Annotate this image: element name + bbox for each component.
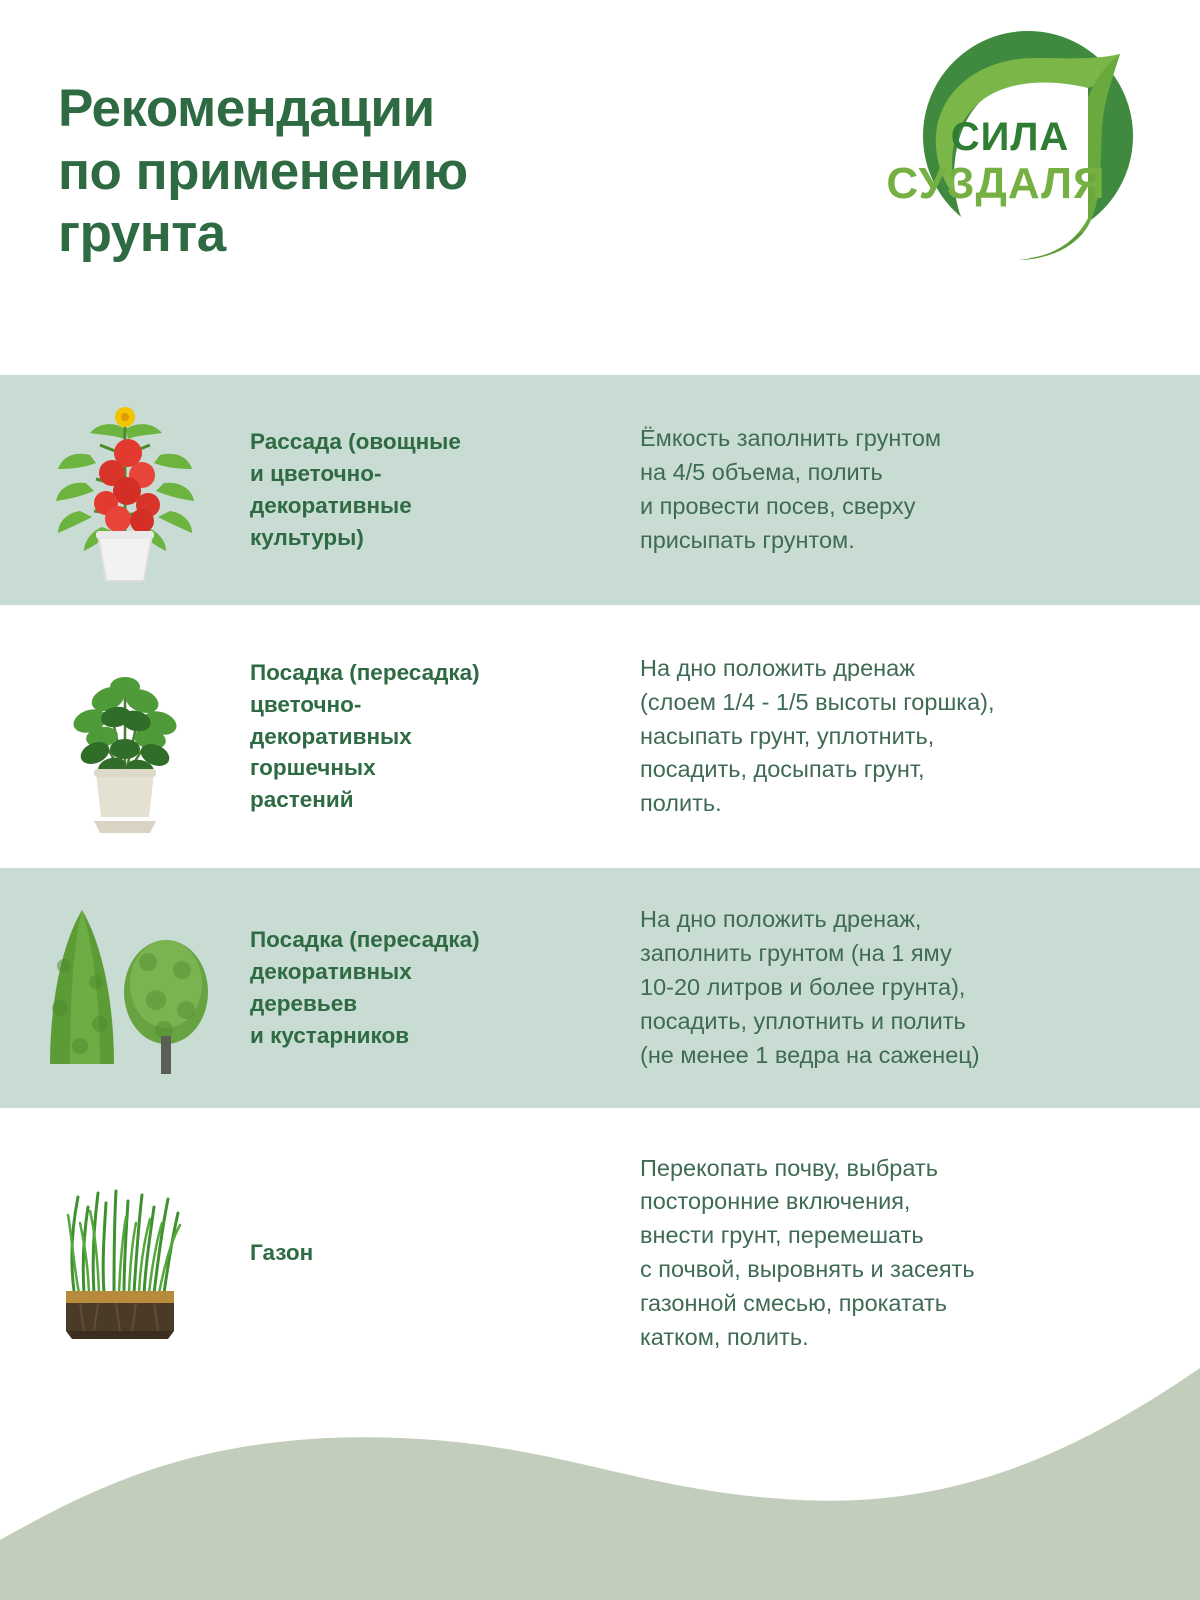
- row-description: На дно положить дренаж, заполнить грунто…: [640, 903, 1200, 1072]
- logo-text-line1: СИЛА: [951, 115, 1070, 159]
- row-title: Газон: [250, 1237, 640, 1269]
- flower: [115, 407, 135, 427]
- decorative-trees-icon: [30, 896, 220, 1081]
- table-row: Посадка (пересадка) декоративных деревье…: [0, 868, 1200, 1108]
- header: Рекомендации по применению грунта СИЛА С…: [0, 0, 1200, 375]
- row-description: На дно положить дренаж (слоем 1/4 - 1/5 …: [640, 652, 1200, 821]
- row-icon-cell: [0, 605, 250, 868]
- row-title: Посадка (пересадка) декоративных деревье…: [250, 924, 640, 1052]
- bottom-wave-decoration: [0, 1340, 1200, 1600]
- row-description: Перекопать почву, выбрать посторонние вк…: [640, 1152, 1200, 1355]
- row-icon-cell: [0, 868, 250, 1108]
- logo-text-line2: СУЗДАЛЯ: [888, 159, 1106, 208]
- row-title: Посадка (пересадка) цветочно- декоративн…: [250, 657, 640, 817]
- recommendations-table: Рассада (овощные и цветочно- декоративны…: [0, 375, 1200, 1398]
- logo-svg: СИЛА СУЗДАЛЯ: [888, 18, 1158, 288]
- infographic-page: Рекомендации по применению грунта СИЛА С…: [0, 0, 1200, 1600]
- tomato-seedling-in-pot-icon: [50, 395, 200, 585]
- potted-houseplant-icon: [50, 637, 200, 837]
- table-row: Рассада (овощные и цветочно- декоративны…: [0, 375, 1200, 605]
- row-title: Рассада (овощные и цветочно- декоративны…: [250, 426, 640, 554]
- row-description: Ёмкость заполнить грунтом на 4/5 объема,…: [640, 422, 1200, 557]
- lawn-turf-block-icon: [40, 1163, 210, 1343]
- row-icon-cell: [0, 375, 250, 605]
- page-title: Рекомендации по применению грунта: [58, 78, 698, 266]
- table-row: Посадка (пересадка) цветочно- декоративн…: [0, 605, 1200, 868]
- sila-suzdalya-logo: СИЛА СУЗДАЛЯ: [888, 18, 1158, 288]
